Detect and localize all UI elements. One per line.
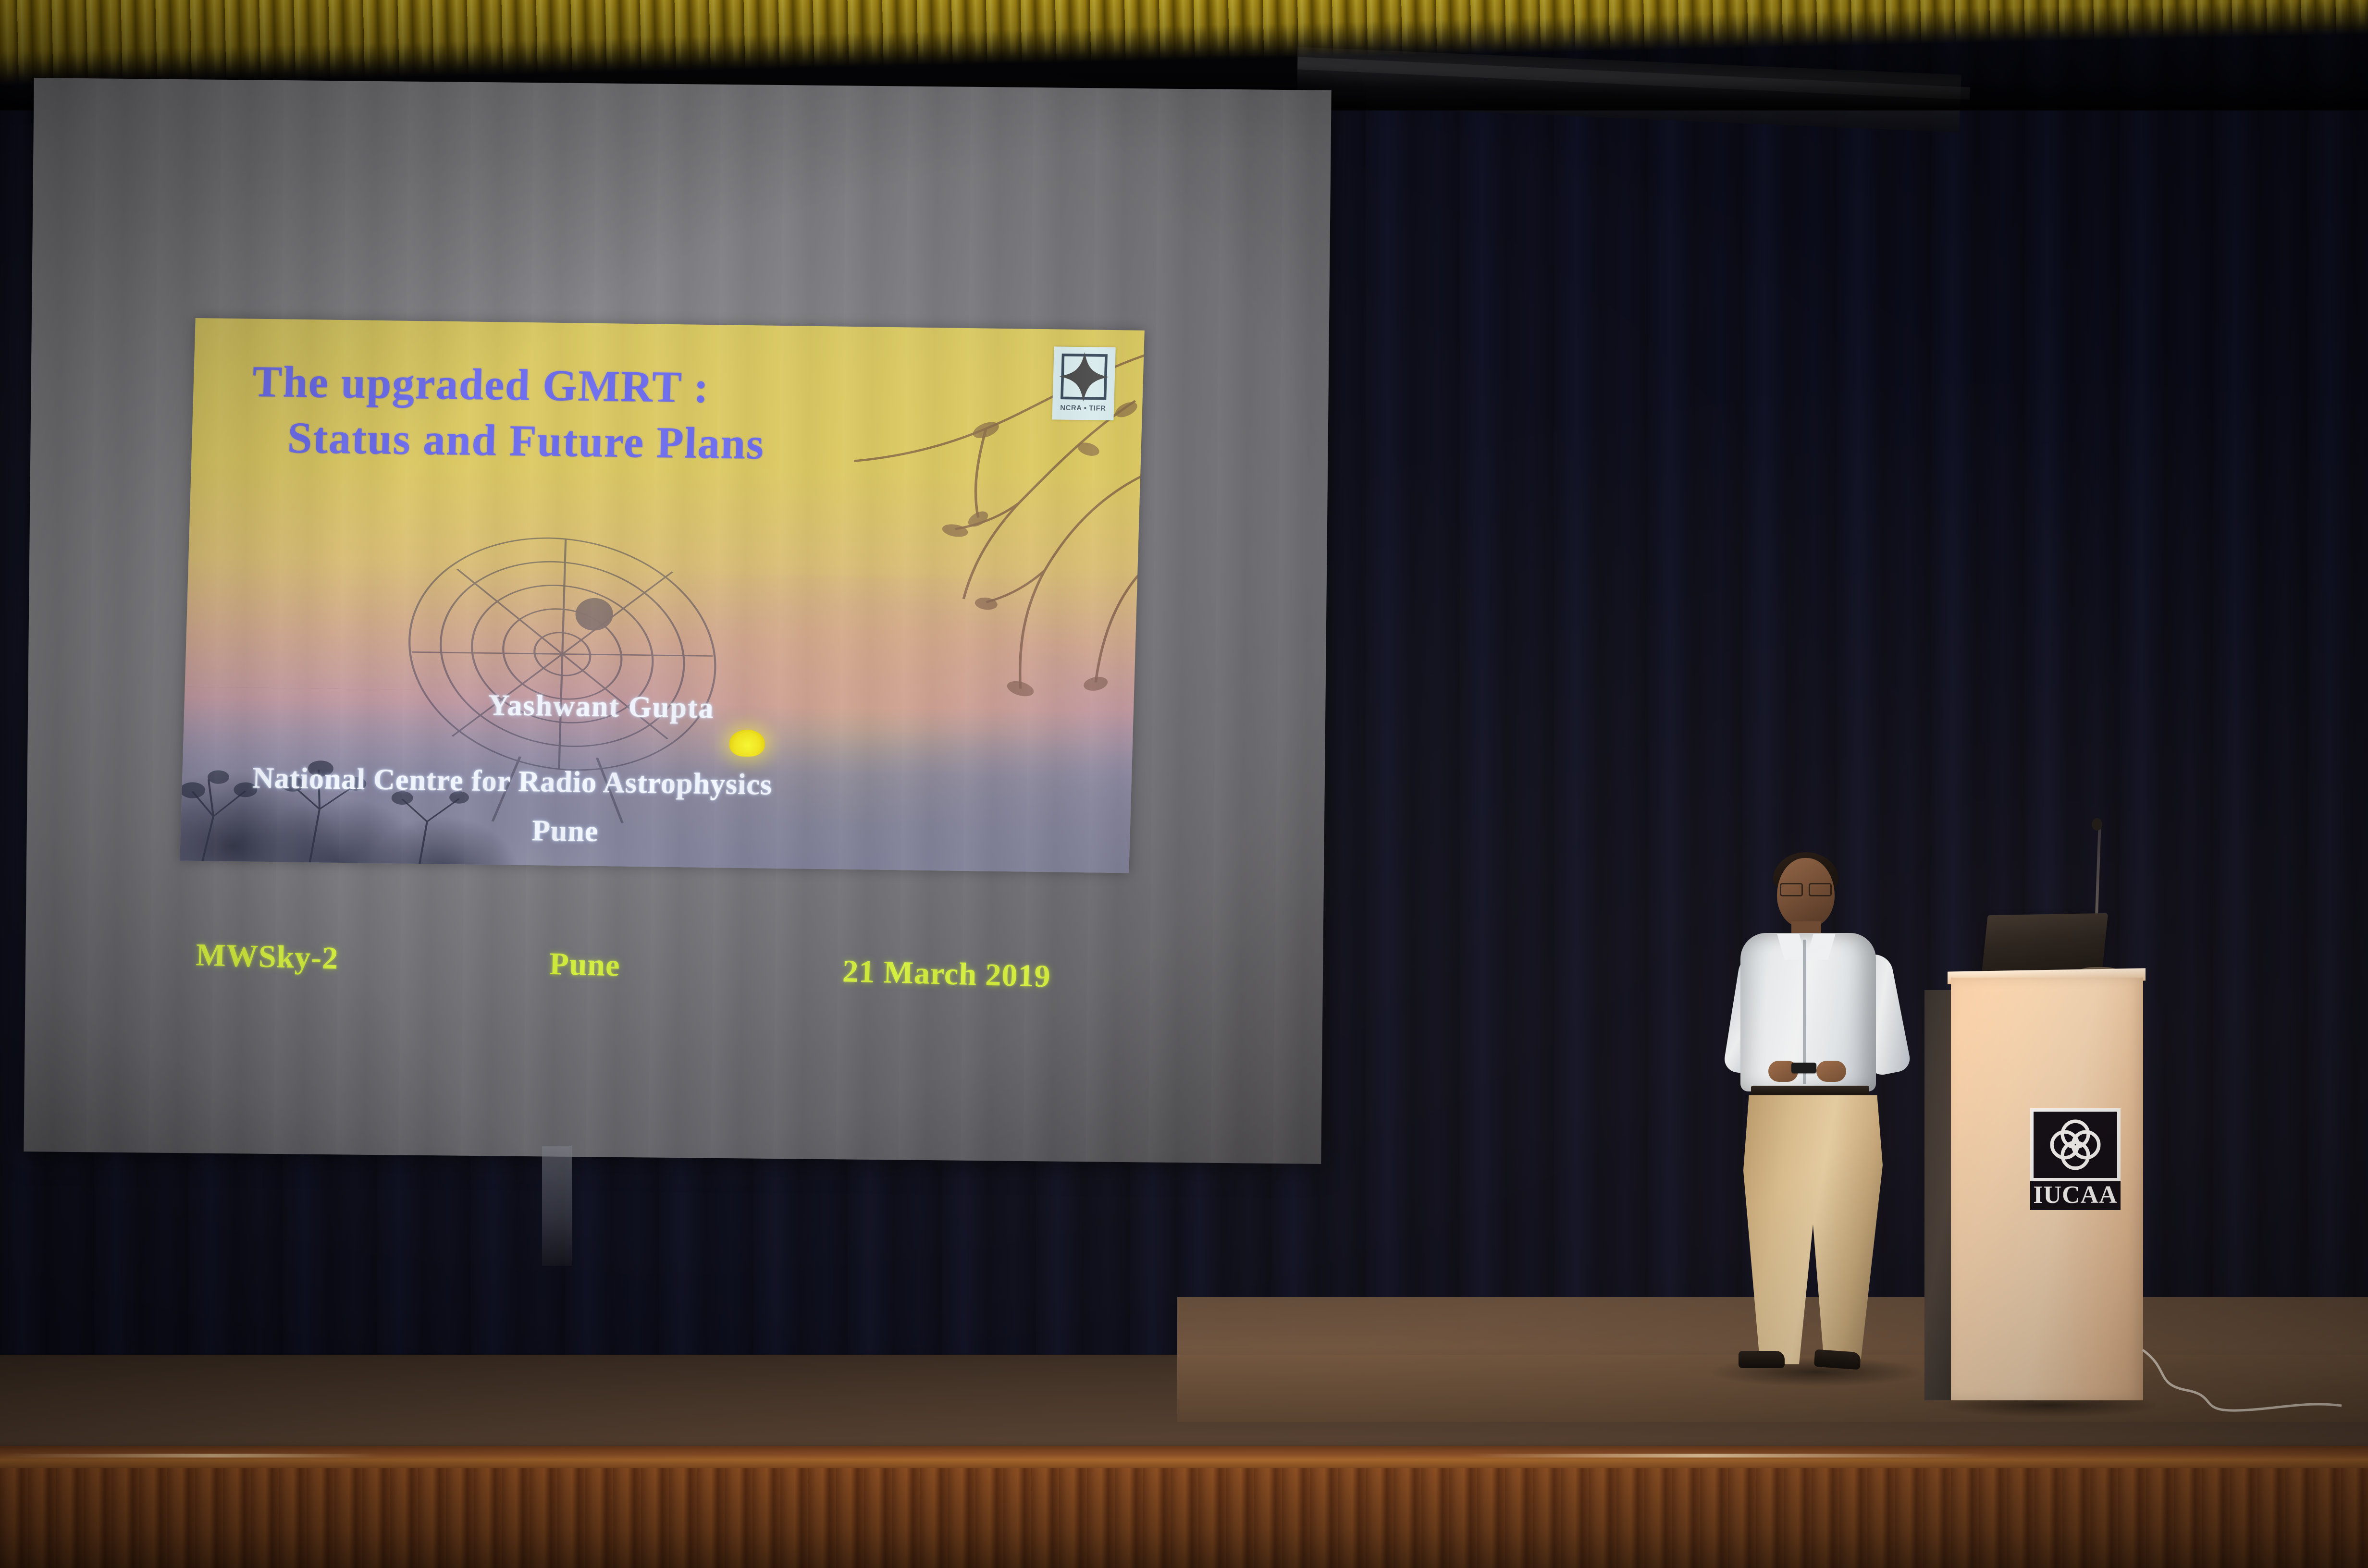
iucaa-rings-icon <box>2030 1108 2121 1181</box>
speaker-trousers <box>1743 1095 1883 1364</box>
floor-cable <box>2141 1340 2343 1412</box>
podium-front-panel: IUCAA <box>1951 978 2143 1400</box>
slide-city: Pune <box>531 814 599 849</box>
presentation-clicker <box>1791 1063 1816 1073</box>
slide-footer: MWSky-2 Pune 21 March 2019 <box>184 936 1146 1014</box>
screen-support-leg <box>542 1146 572 1266</box>
footer-event: MWSky-2 <box>196 937 339 977</box>
speaker-figure <box>1715 845 1917 1374</box>
presentation-slide: The upgraded GMRT : Status and Future Pl… <box>180 318 1145 873</box>
footer-date: 21 March 2019 <box>842 953 1051 995</box>
stage-scene: The upgraded GMRT : Status and Future Pl… <box>0 0 2368 1568</box>
glasses-icon <box>1780 883 1832 894</box>
podium-side-panel <box>1924 990 1952 1400</box>
slide-affiliation: National Centre for Radio Astrophysics <box>252 761 773 802</box>
ncra-tifr-logo: NCRA • TIFR <box>1052 347 1115 421</box>
iucaa-logo: IUCAA <box>2030 1108 2121 1210</box>
slide-title: The upgraded GMRT : Status and Future Pl… <box>250 354 766 472</box>
projection-screen: The upgraded GMRT : Status and Future Pl… <box>24 78 1331 1164</box>
slide-title-line2: Status and Future Plans <box>250 410 765 472</box>
stage-apron-rail <box>0 1446 2368 1471</box>
speaker-hand-right <box>1816 1061 1846 1082</box>
ncra-logo-caption: NCRA • TIFR <box>1060 404 1106 413</box>
podium: IUCAA <box>1924 978 2143 1400</box>
iucaa-wordmark: IUCAA <box>2030 1181 2121 1210</box>
ncra-star-icon <box>1056 350 1111 404</box>
speaker-shoe-right <box>1814 1349 1861 1370</box>
valance-scallop-edge <box>0 0 2368 86</box>
footer-location: Pune <box>549 946 620 984</box>
slide-author: Yashwant Gupta <box>488 688 715 725</box>
speaker-shoe-left <box>1739 1351 1785 1368</box>
stage-apron-shading <box>0 1468 2368 1568</box>
microphone-icon <box>2092 818 2102 831</box>
shirt-placket <box>1803 940 1806 1084</box>
slide-title-line1: The upgraded GMRT : <box>252 357 710 412</box>
